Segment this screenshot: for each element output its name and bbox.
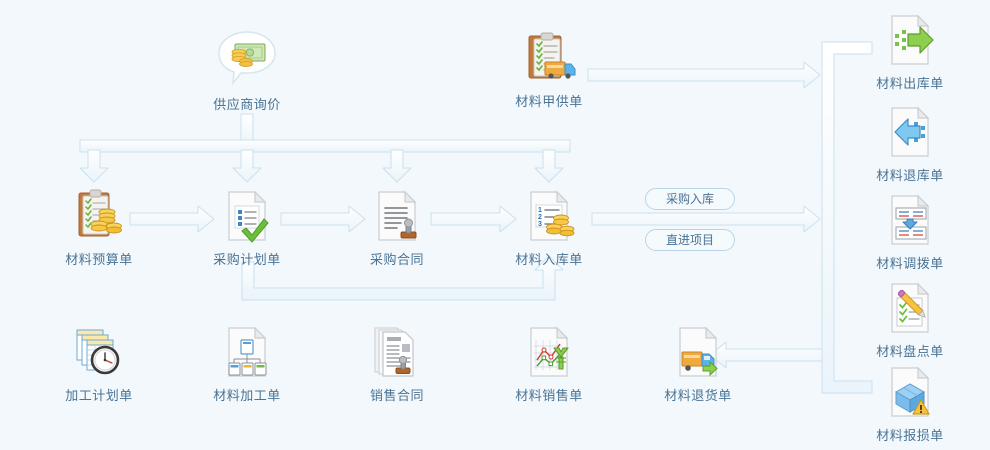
node-label: 材料销售单 xyxy=(494,385,604,404)
node-purchase-plan[interactable]: 采购计划单 xyxy=(192,188,302,268)
node-material-process[interactable]: 材料加工单 xyxy=(192,324,302,404)
node-label: 材料出库单 xyxy=(855,73,965,92)
arrow-supply-to-right-bus xyxy=(588,62,820,88)
arrow-bus-to-material-budget xyxy=(80,150,108,182)
node-label: 材料退货单 xyxy=(643,385,753,404)
node-label: 供应商询价 xyxy=(192,94,302,113)
document-box-warning-icon xyxy=(882,364,938,420)
money-quote-bubble-icon xyxy=(215,30,279,86)
document-tree-icon xyxy=(219,324,275,380)
document-arrow-left-icon xyxy=(882,104,938,160)
node-label: 材料入库单 xyxy=(494,249,604,268)
node-sales-contract[interactable]: 销售合同 xyxy=(342,324,452,404)
arrow-bus-to-purchase-plan xyxy=(233,150,261,182)
node-material-budget[interactable]: 材料预算单 xyxy=(44,188,154,268)
node-label: 销售合同 xyxy=(342,385,452,404)
node-material-return[interactable]: 材料退货单 xyxy=(643,324,753,404)
document-pencil-check-icon xyxy=(882,280,938,336)
document-yen-chart-icon xyxy=(521,324,577,380)
node-label: 加工计划单 xyxy=(44,385,154,404)
documents-stamp-icon xyxy=(369,324,425,380)
arrow-bus-to-material-inbound xyxy=(535,150,563,182)
node-label: 材料加工单 xyxy=(192,385,302,404)
node-label: 材料盘点单 xyxy=(855,341,965,360)
document-check-icon xyxy=(219,188,275,244)
node-purchase-contract[interactable]: 采购合同 xyxy=(342,188,452,268)
document-truck-out-icon xyxy=(670,324,726,380)
svg-text:3: 3 xyxy=(538,221,542,228)
svg-text:2: 2 xyxy=(538,214,542,221)
svg-text:1: 1 xyxy=(538,207,542,214)
table-clock-icon xyxy=(71,324,127,380)
node-material-backin[interactable]: 材料退库单 xyxy=(855,104,965,184)
node-material-outbound[interactable]: 材料出库单 xyxy=(855,12,965,92)
node-label: 材料预算单 xyxy=(44,249,154,268)
node-label: 采购合同 xyxy=(342,249,452,268)
node-material-supply[interactable]: 材料甲供单 xyxy=(494,30,604,110)
clipboard-coins-icon xyxy=(71,188,127,244)
node-supplier-inquiry[interactable]: 供应商询价 xyxy=(192,30,302,113)
clipboard-truck-icon xyxy=(521,30,577,86)
node-label: 材料甲供单 xyxy=(494,91,604,110)
node-label: 材料报损单 xyxy=(855,425,965,444)
node-material-transfer[interactable]: 材料调拨单 xyxy=(855,192,965,272)
document-coins-icon: 123 xyxy=(521,188,577,244)
node-label: 采购计划单 xyxy=(192,249,302,268)
node-material-stocktake[interactable]: 材料盘点单 xyxy=(855,280,965,360)
node-label: 材料退库单 xyxy=(855,165,965,184)
document-stamp-icon xyxy=(369,188,425,244)
node-material-sales[interactable]: 材料销售单 xyxy=(494,324,604,404)
pill-direct-project[interactable]: 直进项目 xyxy=(645,229,735,251)
document-transfer-icon xyxy=(882,192,938,248)
node-material-inbound[interactable]: 123 材料入库单 xyxy=(494,188,604,268)
node-process-plan[interactable]: 加工计划单 xyxy=(44,324,154,404)
wire-distribution-bus xyxy=(80,140,570,152)
document-arrow-right-icon xyxy=(882,12,938,68)
pill-purchase-inbound[interactable]: 采购入库 xyxy=(645,188,735,210)
node-material-damage[interactable]: 材料报损单 xyxy=(855,364,965,444)
flow-diagram-canvas: 供应商询价 材料甲供单 xyxy=(0,0,990,450)
node-label: 材料调拨单 xyxy=(855,253,965,272)
arrow-bus-to-purchase-contract xyxy=(383,150,411,182)
